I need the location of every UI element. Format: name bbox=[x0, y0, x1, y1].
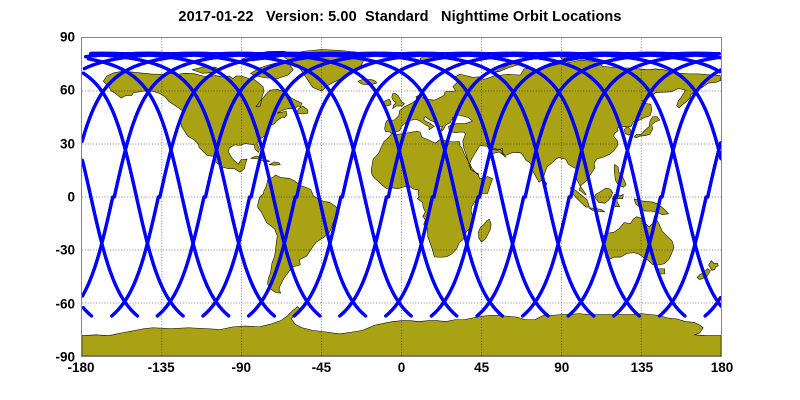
landmass-uk bbox=[392, 93, 405, 108]
x-tick-label: -135 bbox=[148, 360, 175, 375]
y-tick-label: -60 bbox=[30, 296, 75, 311]
y-tick-label: 30 bbox=[30, 136, 75, 151]
y-tick-label: 0 bbox=[30, 190, 75, 205]
x-tick-label: -90 bbox=[231, 360, 251, 375]
landmass-hispaniola bbox=[269, 162, 280, 165]
y-tick-label: 60 bbox=[30, 83, 75, 98]
x-tick-label: -180 bbox=[67, 360, 94, 375]
y-tick-label: -30 bbox=[30, 243, 75, 258]
x-tick-label: 135 bbox=[631, 360, 654, 375]
x-tick-label: 90 bbox=[554, 360, 569, 375]
x-tick-label: -45 bbox=[312, 360, 332, 375]
x-tick-label: 180 bbox=[711, 360, 734, 375]
landmass-australia bbox=[602, 216, 674, 265]
map-plot-area bbox=[81, 37, 722, 357]
page-title: 2017-01-22 Version: 5.00 Standard Nightt… bbox=[0, 9, 800, 25]
x-tick-label: 45 bbox=[474, 360, 489, 375]
x-tick-label: 0 bbox=[398, 360, 406, 375]
landmass-newfoundland bbox=[296, 106, 308, 114]
world-map bbox=[82, 38, 721, 356]
orbit-track-2 bbox=[83, 73, 183, 316]
landmass-new-zealand-n bbox=[709, 261, 719, 271]
orbit-track-2 bbox=[83, 73, 183, 316]
orbit-track-2 bbox=[83, 73, 183, 316]
orbit-track-14 bbox=[83, 308, 91, 316]
landmass-borneo bbox=[595, 188, 613, 203]
orbit-track-8 bbox=[82, 197, 112, 296]
landmass-madagascar bbox=[478, 219, 491, 242]
orbit-track-8 bbox=[708, 143, 721, 197]
y-tick-label: 90 bbox=[30, 30, 75, 45]
orbit-map-figure: 2017-01-22 Version: 5.00 Standard Nightt… bbox=[0, 0, 800, 400]
